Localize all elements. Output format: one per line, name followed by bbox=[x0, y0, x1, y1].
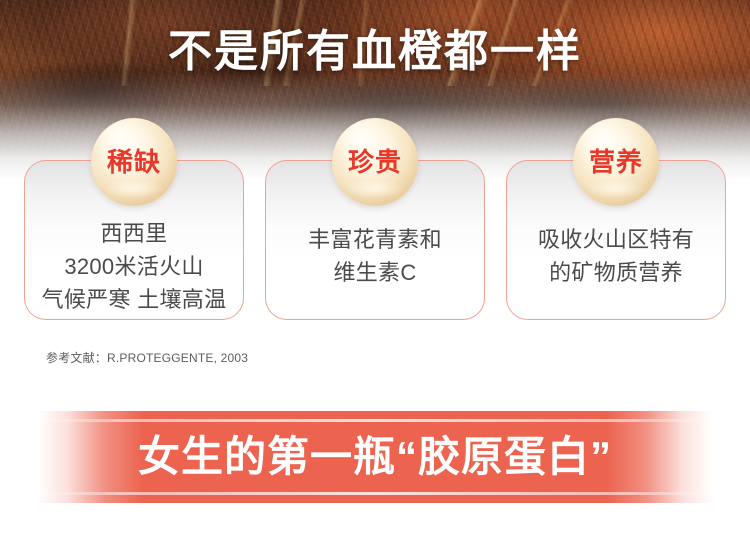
feature-card-body: 丰富花青素和 维生素C bbox=[250, 223, 500, 289]
feature-card-list: 稀缺 西西里 3200米活火山 气候严寒 土壤高温 珍贵 丰富花青素和 维生素C… bbox=[0, 160, 750, 322]
pearl-badge-icon: 珍贵 bbox=[332, 118, 418, 206]
banner-bottom-highlight-line bbox=[0, 492, 750, 495]
badge-label: 珍贵 bbox=[332, 147, 418, 177]
feature-card-nutrition: 营养 吸收火山区特有 的矿物质营养 bbox=[506, 160, 726, 320]
bottom-ribbon-banner: 女生的第一瓶“胶原蛋白” bbox=[0, 411, 750, 503]
feature-card-rarity: 稀缺 西西里 3200米活火山 气候严寒 土壤高温 bbox=[24, 160, 244, 320]
pearl-badge-icon: 稀缺 bbox=[91, 118, 177, 206]
page-title: 不是所有血橙都一样 bbox=[0, 26, 750, 78]
pearl-badge-icon: 营养 bbox=[573, 118, 659, 206]
reference-footnote: 参考文献：R.PROTEGGENTE, 2003 bbox=[46, 350, 248, 366]
banner-headline: 女生的第一瓶“胶原蛋白” bbox=[0, 431, 750, 483]
feature-card-body: 西西里 3200米活火山 气候严寒 土壤高温 bbox=[9, 217, 259, 316]
badge-label: 稀缺 bbox=[91, 147, 177, 177]
badge-label: 营养 bbox=[573, 147, 659, 177]
feature-card-precious: 珍贵 丰富花青素和 维生素C bbox=[265, 160, 485, 320]
banner-top-highlight-line bbox=[0, 419, 750, 422]
feature-card-body: 吸收火山区特有 的矿物质营养 bbox=[491, 223, 741, 289]
